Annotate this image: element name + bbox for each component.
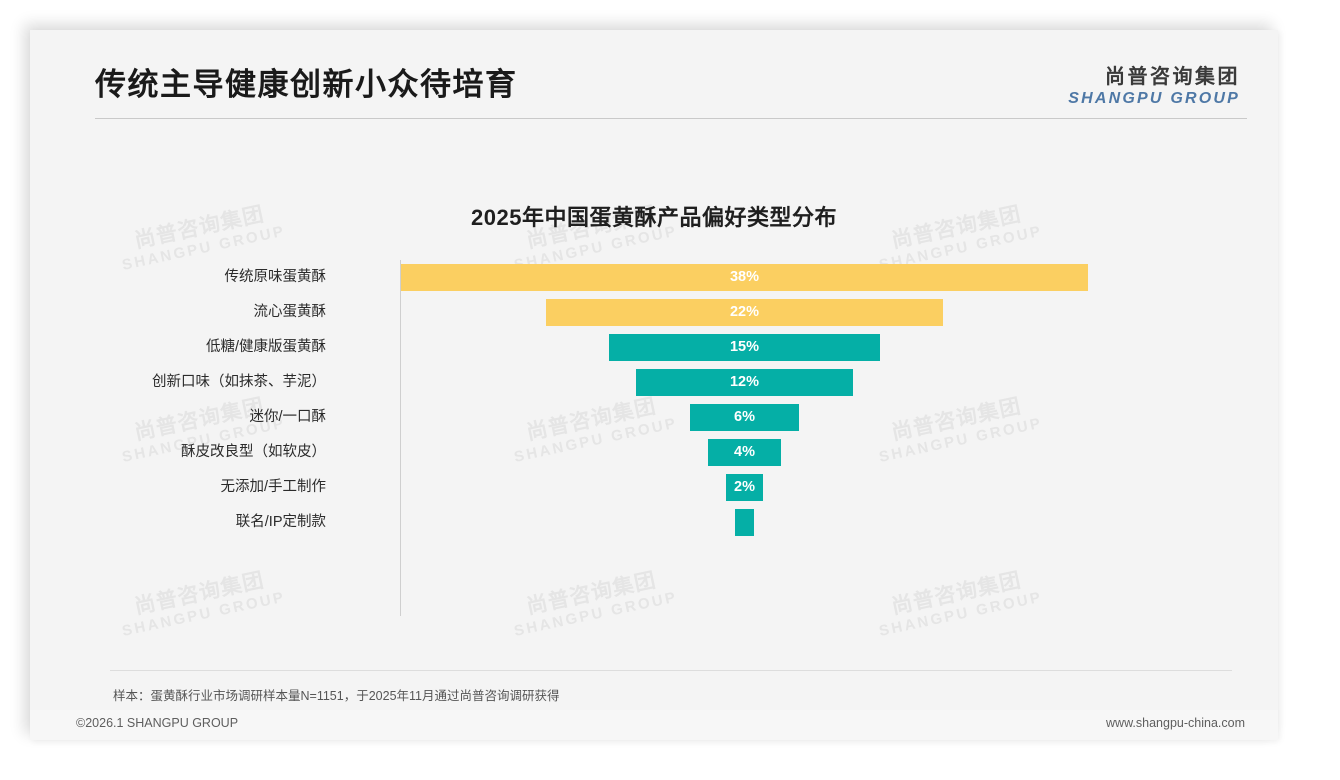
slide-header: 传统主导健康创新小众待培育 尚普咨询集团 SHANGPU GROUP bbox=[30, 30, 1278, 120]
brand-logo: 尚普咨询集团 SHANGPU GROUP bbox=[1068, 60, 1240, 108]
footer-website[interactable]: www.shangpu-china.com bbox=[1106, 716, 1245, 730]
category-label: 联名/IP定制款 bbox=[236, 505, 326, 540]
category-label: 迷你/一口酥 bbox=[249, 400, 326, 435]
funnel-bar: 12% bbox=[636, 369, 853, 396]
funnel-row: 低糖/健康版蛋黄酥15% bbox=[30, 330, 1278, 365]
funnel-row: 流心蛋黄酥22% bbox=[30, 295, 1278, 330]
funnel-row: 迷你/一口酥6% bbox=[30, 400, 1278, 435]
funnel-bar: 4% bbox=[708, 439, 780, 466]
funnel-bar: 15% bbox=[609, 334, 880, 361]
page-title: 传统主导健康创新小众待培育 bbox=[95, 59, 518, 104]
funnel-row: 联名/IP定制款 bbox=[30, 505, 1278, 540]
chart-title: 2025年中国蛋黄酥产品偏好类型分布 bbox=[30, 200, 1278, 232]
funnel-bar: 2% bbox=[726, 474, 762, 501]
category-label: 酥皮改良型（如软皮） bbox=[181, 435, 326, 470]
footnote-divider bbox=[110, 670, 1232, 671]
funnel-row: 酥皮改良型（如软皮）4% bbox=[30, 435, 1278, 470]
category-label: 无添加/手工制作 bbox=[220, 470, 326, 505]
brand-logo-cn: 尚普咨询集团 bbox=[1068, 60, 1240, 89]
funnel-row: 创新口味（如抹茶、芋泥）12% bbox=[30, 365, 1278, 400]
funnel-row: 传统原味蛋黄酥38% bbox=[30, 260, 1278, 295]
category-label: 传统原味蛋黄酥 bbox=[225, 260, 327, 295]
category-label: 流心蛋黄酥 bbox=[254, 295, 327, 330]
footer-copyright: ©2026.1 SHANGPU GROUP bbox=[76, 716, 238, 730]
header-divider bbox=[95, 118, 1247, 119]
slide-footer: ©2026.1 SHANGPU GROUP www.shangpu-china.… bbox=[30, 710, 1278, 740]
funnel-chart-plot: 传统原味蛋黄酥38%流心蛋黄酥22%低糖/健康版蛋黄酥15%创新口味（如抹茶、芋… bbox=[30, 260, 1278, 620]
funnel-bar: 6% bbox=[690, 404, 798, 431]
funnel-bar: 38% bbox=[401, 264, 1088, 291]
category-label: 创新口味（如抹茶、芋泥） bbox=[152, 365, 326, 400]
slide-canvas: 尚普咨询集团 SHANGPU GROUP 尚普咨询集团 SHANGPU GROU… bbox=[30, 30, 1278, 740]
chart-area: 2025年中国蛋黄酥产品偏好类型分布 传统原味蛋黄酥38%流心蛋黄酥22%低糖/… bbox=[30, 120, 1278, 660]
funnel-bar bbox=[735, 509, 753, 536]
brand-logo-en: SHANGPU GROUP bbox=[1068, 90, 1240, 108]
funnel-bar: 22% bbox=[546, 299, 944, 326]
funnel-row: 无添加/手工制作2% bbox=[30, 470, 1278, 505]
chart-footnote: 样本：蛋黄酥行业市场调研样本量N=1151，于2025年11月通过尚普咨询调研获… bbox=[113, 685, 560, 704]
category-label: 低糖/健康版蛋黄酥 bbox=[206, 330, 326, 365]
